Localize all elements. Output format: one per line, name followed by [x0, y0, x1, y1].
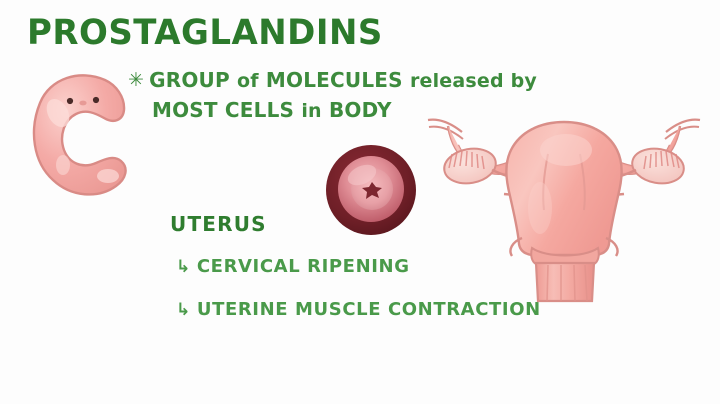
uterus-section-heading: UTERUS [170, 212, 267, 236]
cell-eye-right [93, 97, 99, 103]
effect-label: CERVICAL RIPENING [197, 256, 410, 277]
sub-arrow-icon: ↳ [176, 300, 191, 320]
cell-nose [79, 101, 86, 106]
intro-segment-in: in [301, 100, 321, 122]
uterus-diagram-icon [418, 98, 710, 303]
slide-canvas: PROSTAGLANDINS ✳GROUP of MOLECULES relea… [0, 0, 720, 404]
intro-segment-of: of [237, 70, 259, 92]
prostaglandin-cell-character-icon [22, 58, 142, 208]
intro-segment-released-by: released by [410, 70, 537, 92]
cell-eye-left [67, 98, 73, 104]
sub-arrow-icon: ↳ [176, 257, 191, 277]
intro-segment-group: GROUP [149, 68, 230, 92]
intro-segment-molecules: MOLECULES [266, 68, 403, 92]
effect-list-item: ↳CERVICAL RIPENING [176, 256, 410, 277]
page-title: PROSTAGLANDINS [27, 13, 383, 53]
cervix-cross-section-icon [322, 142, 420, 238]
intro-segment-body: BODY [329, 98, 392, 122]
intro-segment-most-cells: MOST CELLS [152, 98, 294, 122]
